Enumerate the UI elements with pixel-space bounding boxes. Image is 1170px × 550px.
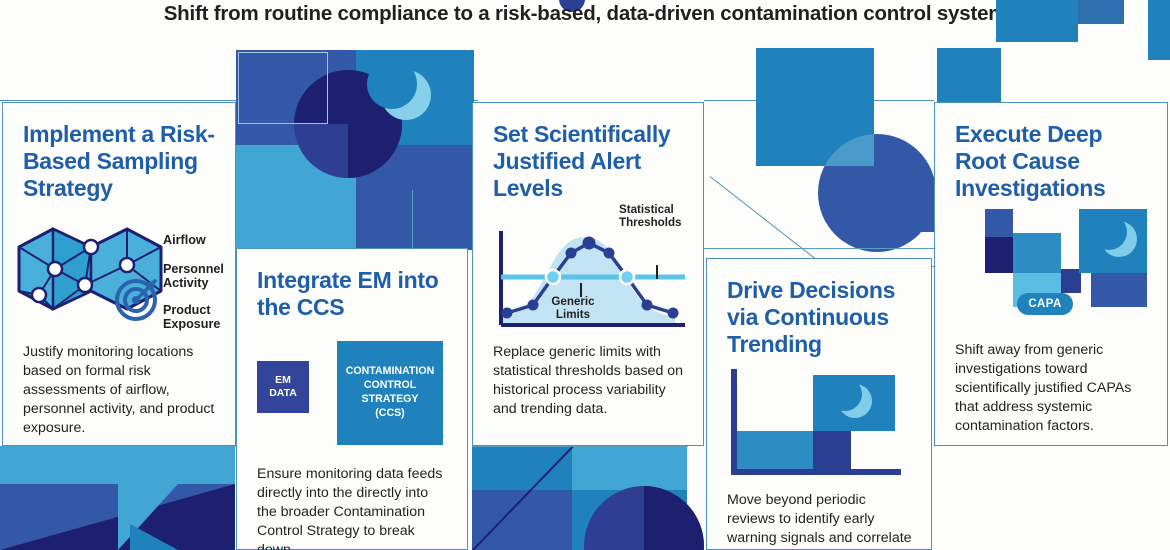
decor-hairline-vertical xyxy=(412,190,413,250)
decor-square-sky-bl xyxy=(0,446,235,484)
decor-cluster-bottomleft xyxy=(0,446,235,550)
card-title: Drive Decisions via Continuous Trending xyxy=(727,277,911,358)
rule-top-left xyxy=(0,100,238,101)
em-data-block: EM DATA xyxy=(257,361,309,413)
decor-circle-navy-lowerright xyxy=(348,124,402,178)
ccs-line4: (CCS) xyxy=(375,407,404,419)
card-alert-levels[interactable]: Set Scientifically Justified Alert Level… xyxy=(472,102,704,446)
card-body: Justify monitoring locations based on fo… xyxy=(23,343,223,437)
bar-chart-blocks-icon xyxy=(731,369,901,481)
decor-cluster-bottomcenter xyxy=(472,446,704,550)
card-title: Integrate EM into the CCS xyxy=(257,267,447,321)
decor-outline-square xyxy=(238,52,328,124)
infographic-canvas: Shift from routine compliance to a risk-… xyxy=(0,0,1170,550)
decor-square-topleft-accent xyxy=(996,0,1078,42)
decor-frame-bc xyxy=(472,446,688,447)
chart-label-statistical-thresholds: Statistical Thresholds xyxy=(619,203,699,229)
decor-circle-overlap-tr xyxy=(818,134,874,166)
legend-airflow: Airflow xyxy=(163,233,233,247)
decor-square-sky-bc xyxy=(572,446,687,490)
decor-square-topleft-accent-2 xyxy=(1078,0,1124,24)
target-bullseye-icon xyxy=(115,275,161,321)
statistical-line1: Statistical xyxy=(619,203,674,216)
card-body: Ensure monitoring data feeds directly in… xyxy=(257,465,447,550)
card-body: Replace generic limits with statistical … xyxy=(493,343,685,419)
chart-label-generic-limits: Generic Limits xyxy=(533,295,613,321)
decor-halfcircle-navy-bc xyxy=(584,486,704,550)
ccs-line3: STRATEGY xyxy=(362,393,419,405)
capa-badge: CAPA xyxy=(1017,293,1073,315)
card-root-cause-investigations[interactable]: Execute Deep Root Cause Investigations xyxy=(934,102,1168,446)
card-title: Implement a Risk-Based Sampling Strategy xyxy=(23,121,215,202)
generic-line1: Generic xyxy=(551,295,594,308)
decor-crescent-pale xyxy=(381,70,431,120)
page-subtitle: Shift from routine compliance to a risk-… xyxy=(0,2,1170,26)
generic-line2: Limits xyxy=(556,308,590,321)
decor-cluster-center xyxy=(236,50,471,250)
em-data-line2: DATA xyxy=(269,387,297,399)
card-title: Set Scientifically Justified Alert Level… xyxy=(493,121,683,202)
card-title: Execute Deep Root Cause Investigations xyxy=(955,121,1147,202)
card-body: Move beyond periodic reviews to identify… xyxy=(727,491,913,550)
decor-cluster-bottomright xyxy=(1148,0,1170,60)
ccs-line1: CONTAMINATION xyxy=(346,365,434,377)
decor-triangle-brand-bl xyxy=(130,524,178,550)
legend-personnel-activity: Personnel Activity xyxy=(163,262,225,290)
legend-product-exposure: Product Exposure xyxy=(163,303,225,331)
card-risk-based-sampling[interactable]: Implement a Risk-Based Sampling Strategy xyxy=(2,102,236,446)
card-body: Shift away from generic investigations t… xyxy=(955,341,1155,435)
em-data-line1: EM xyxy=(275,374,291,386)
ccs-block: CONTAMINATION CONTROL STRATEGY (CCS) xyxy=(337,341,443,445)
decor-square-brand-bc xyxy=(472,446,572,490)
statistical-line2: Thresholds xyxy=(619,216,682,229)
ccs-line2: CONTROL xyxy=(364,379,416,391)
decor-square-brand-br xyxy=(1148,0,1170,60)
card-continuous-trending[interactable]: Drive Decisions via Continuous Trending … xyxy=(706,258,932,550)
card-integrate-em-ccs[interactable]: Integrate EM into the CCS EM DATA CONTAM… xyxy=(236,248,468,550)
